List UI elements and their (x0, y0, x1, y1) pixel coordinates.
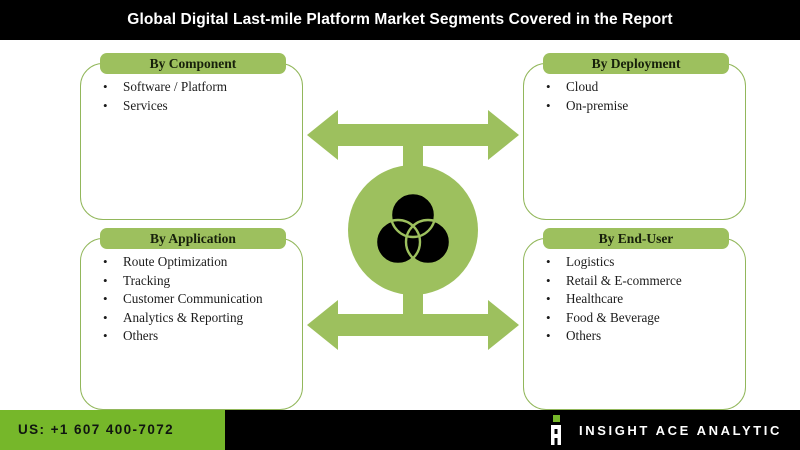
list-item-label: Cloud (566, 79, 598, 94)
list-item-label: Software / Platform (123, 79, 227, 94)
segment-card-by-component: By Component • Software / Platform • Ser… (80, 63, 303, 220)
list-item: • On-premise (534, 97, 737, 115)
segment-card-by-end-user: By End-User • Logistics • Retail & E-com… (523, 238, 746, 410)
footer-phone-block: US: +1 607 400-7072 (0, 410, 225, 450)
list-item: • Others (534, 327, 737, 345)
list-item-label: Healthcare (566, 291, 623, 306)
segment-list-by-component: • Software / Platform • Services (91, 78, 294, 115)
center-graphic (300, 100, 526, 360)
infographic-canvas: By Component • Software / Platform • Ser… (0, 40, 800, 410)
list-item-label: Logistics (566, 254, 614, 269)
footer-bar: US: +1 607 400-7072 INSIGHT ACE ANALYTIC (0, 410, 800, 450)
footer-phone-number: US: +1 607 400-7072 (18, 410, 174, 450)
bullet-icon: • (103, 290, 108, 308)
title-bar: Global Digital Last-mile Platform Market… (0, 0, 800, 40)
insight-ace-analytic-logo-icon (545, 415, 567, 445)
brand-name: INSIGHT ACE ANALYTIC (579, 423, 782, 438)
page-title: Global Digital Last-mile Platform Market… (0, 0, 800, 40)
list-item-label: Food & Beverage (566, 310, 660, 325)
list-item: • Software / Platform (91, 78, 294, 96)
segment-card-by-deployment: By Deployment • Cloud • On-premise (523, 63, 746, 220)
list-item: • Retail & E-commerce (534, 272, 737, 290)
bullet-icon: • (546, 97, 551, 115)
bullet-icon: • (546, 327, 551, 345)
bullet-icon: • (546, 78, 551, 96)
segment-title-by-component: By Component (100, 53, 286, 74)
list-item-label: On-premise (566, 98, 628, 113)
segment-list-by-end-user: • Logistics • Retail & E-commerce • Heal… (534, 253, 737, 346)
bullet-icon: • (103, 253, 108, 271)
list-item-label: Analytics & Reporting (123, 310, 243, 325)
list-item-label: Tracking (123, 273, 170, 288)
list-item: • Customer Communication (91, 290, 294, 308)
segment-title-by-end-user: By End-User (543, 228, 729, 249)
bullet-icon: • (546, 253, 551, 271)
list-item-label: Others (566, 328, 601, 343)
segment-title-by-application: By Application (100, 228, 286, 249)
bullet-icon: • (103, 309, 108, 327)
list-item-label: Retail & E-commerce (566, 273, 682, 288)
list-item-label: Others (123, 328, 158, 343)
list-item: • Others (91, 327, 294, 345)
list-item: • Services (91, 97, 294, 115)
list-item: • Tracking (91, 272, 294, 290)
list-item: • Healthcare (534, 290, 737, 308)
list-item: • Food & Beverage (534, 309, 737, 327)
bullet-icon: • (546, 272, 551, 290)
list-item-label: Customer Communication (123, 291, 263, 306)
list-item: • Analytics & Reporting (91, 309, 294, 327)
list-item-label: Services (123, 98, 168, 113)
list-item: • Logistics (534, 253, 737, 271)
segment-card-by-application: By Application • Route Optimization • Tr… (80, 238, 303, 410)
list-item: • Cloud (534, 78, 737, 96)
bullet-icon: • (103, 78, 108, 96)
segment-list-by-deployment: • Cloud • On-premise (534, 78, 737, 115)
segment-title-by-deployment: By Deployment (543, 53, 729, 74)
bullet-icon: • (546, 290, 551, 308)
list-item: • Route Optimization (91, 253, 294, 271)
list-item-label: Route Optimization (123, 254, 227, 269)
bullet-icon: • (103, 97, 108, 115)
footer-brand: INSIGHT ACE ANALYTIC (545, 410, 782, 450)
bullet-icon: • (546, 309, 551, 327)
bullet-icon: • (103, 327, 108, 345)
segment-list-by-application: • Route Optimization • Tracking • Custom… (91, 253, 294, 346)
bullet-icon: • (103, 272, 108, 290)
